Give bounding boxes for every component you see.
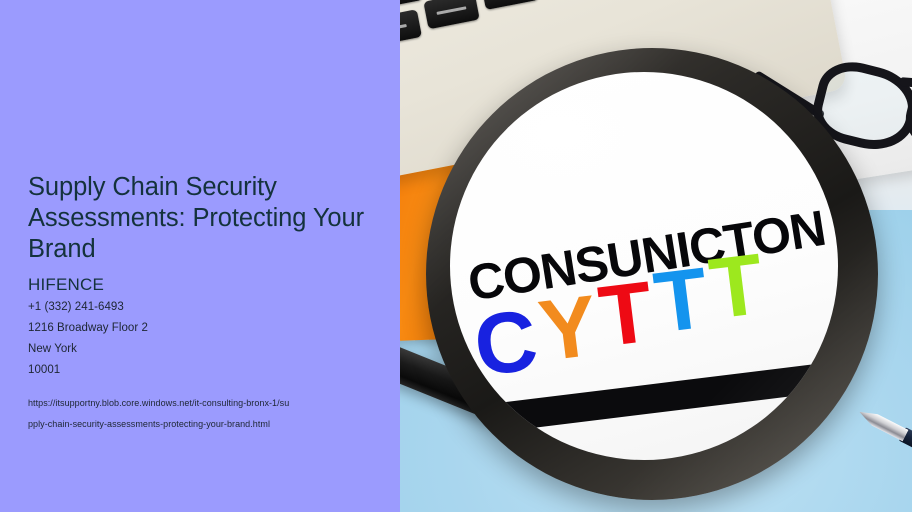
eyeglasses-bridge bbox=[900, 77, 912, 88]
text-content-block: Supply Chain Security Assessments: Prote… bbox=[28, 172, 394, 435]
contact-city: New York bbox=[28, 339, 394, 360]
magnified-letter: C bbox=[470, 296, 546, 389]
magnifier-lens-content: CONSUNICTON CYTTT bbox=[450, 72, 838, 460]
magnified-letter: T bbox=[705, 240, 772, 332]
magnified-letter: T bbox=[595, 268, 662, 360]
page-title: Supply Chain Security Assessments: Prote… bbox=[28, 172, 396, 265]
contact-phone: +1 (332) 241-6493 bbox=[28, 297, 394, 318]
magnifier-lens: CONSUNICTON CYTTT bbox=[450, 72, 838, 460]
slide-canvas: Supply Chain Security Assessments: Prote… bbox=[0, 0, 912, 512]
contact-address: 1216 Broadway Floor 2 bbox=[28, 318, 394, 339]
source-url-line-1: https://itsupportny.blob.core.windows.ne… bbox=[28, 393, 394, 414]
left-text-panel: Supply Chain Security Assessments: Prote… bbox=[0, 0, 400, 512]
keyboard-key bbox=[481, 0, 539, 10]
magnifying-glass-icon: CONSUNICTON CYTTT bbox=[418, 38, 888, 508]
source-url: https://itsupportny.blob.core.windows.ne… bbox=[28, 393, 394, 435]
magnified-letter: T bbox=[650, 254, 717, 346]
keyboard-key bbox=[423, 0, 479, 29]
brand-name: HIFENCE bbox=[28, 274, 394, 295]
hero-photo: CONSUNICTON CYTTT bbox=[400, 0, 912, 512]
magnified-letter: Y bbox=[535, 282, 606, 375]
contact-zip: 10001 bbox=[28, 360, 394, 381]
source-url-line-2: pply-chain-security-assessments-protecti… bbox=[28, 414, 394, 435]
